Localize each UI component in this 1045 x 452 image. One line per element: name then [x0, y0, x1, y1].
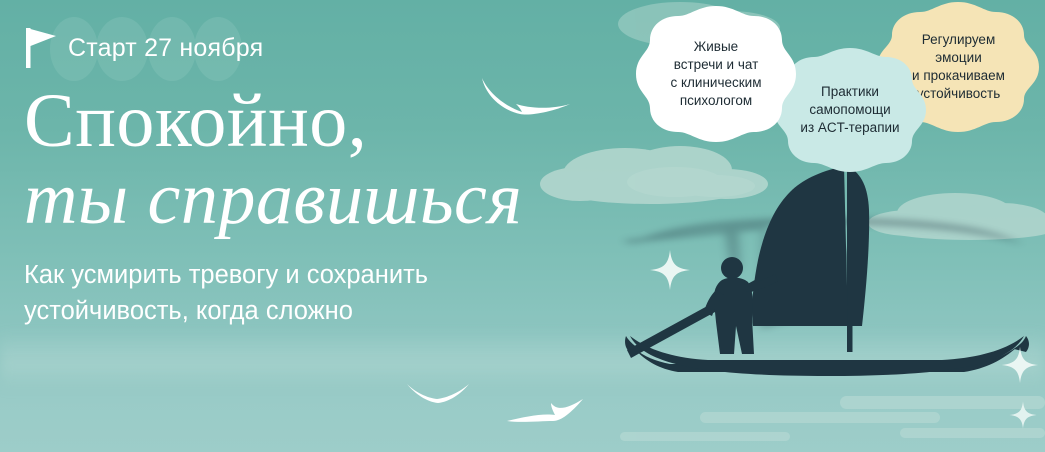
start-date-label: Старт 27 ноября — [68, 34, 263, 63]
sailboat-silhouette — [612, 150, 1042, 400]
page-title-line-2: ты справишься — [24, 162, 644, 236]
flag-icon — [24, 26, 58, 70]
page-title-line-1: Спокойно, — [24, 84, 644, 158]
banner-text-column: Старт 27 ноября Спокойно, ты справишься … — [24, 20, 644, 329]
banner-subtitle: Как усмирить тревогу и сохранить устойчи… — [24, 258, 524, 328]
promo-banner: Старт 27 ноября Спокойно, ты справишься … — [0, 0, 1045, 452]
bubble-label: Практики самопомощи из ACT-терапии — [788, 83, 911, 136]
feature-bubble-meetings: Живые встречи и чат с клиническим психол… — [630, 4, 802, 144]
start-date-row: Старт 27 ноября — [24, 20, 644, 76]
bubble-label: Живые встречи и чат с клиническим психол… — [659, 38, 774, 109]
